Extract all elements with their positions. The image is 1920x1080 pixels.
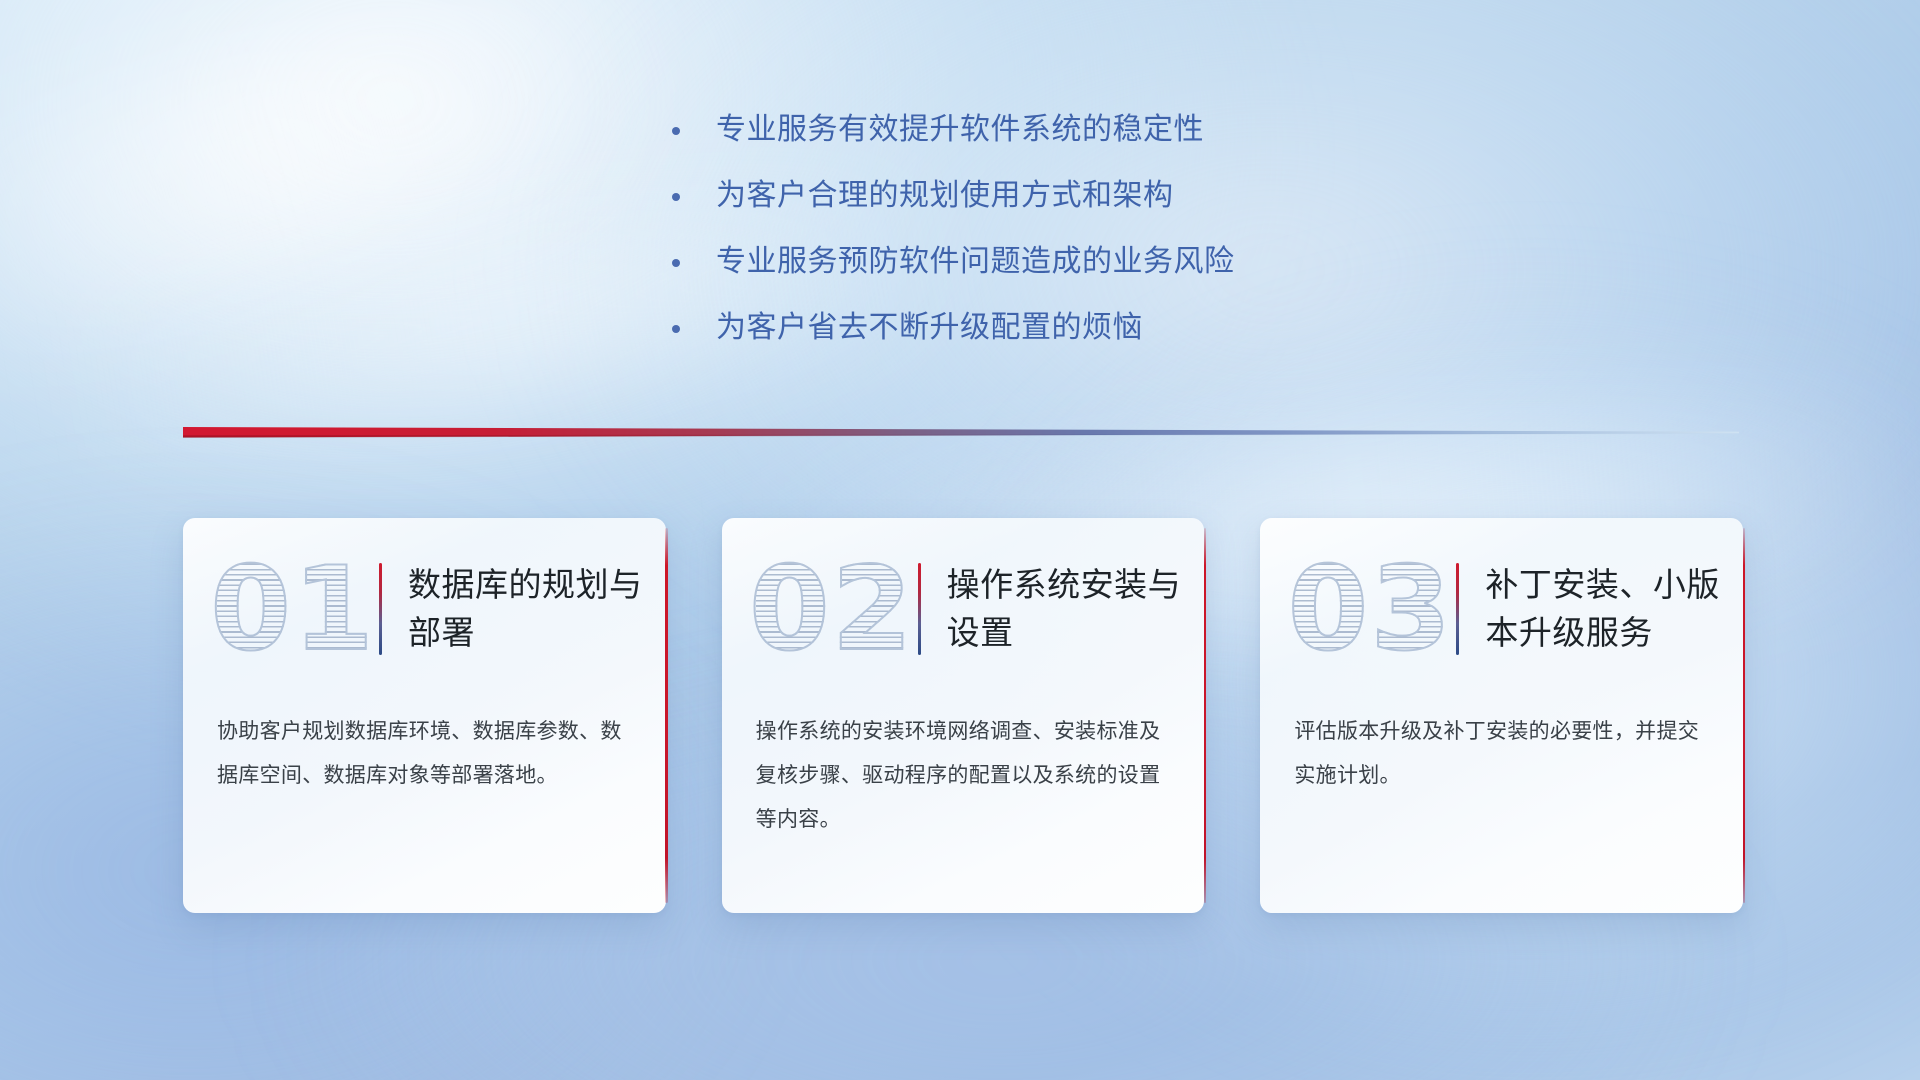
service-card-02[interactable]: 02 操作系统安装与设置 操作系统的安装环境网络调查、安装标准及复核步骤、驱动程… bbox=[722, 518, 1205, 913]
section-divider bbox=[183, 425, 1739, 441]
card-description: 操作系统的安装环境网络调查、安装标准及复核步骤、驱动程序的配置以及系统的设置等内… bbox=[722, 710, 1205, 842]
benefits-bullet-list: 专业服务有效提升软件系统的稳定性 为客户合理的规划使用方式和架构 专业服务预防软… bbox=[672, 110, 1572, 374]
background-light-streak-1 bbox=[0, 0, 672, 364]
list-item: 为客户省去不断升级配置的烦恼 bbox=[672, 308, 1572, 348]
card-accent-divider bbox=[1456, 563, 1459, 655]
service-card-row: 01 数据库的规划与部署 协助客户规划数据库环境、数据库参数、数据库空间、数据库… bbox=[183, 518, 1743, 913]
bullet-text: 为客户省去不断升级配置的烦恼 bbox=[716, 308, 1143, 348]
list-item: 为客户合理的规划使用方式和架构 bbox=[672, 176, 1572, 216]
card-description: 协助客户规划数据库环境、数据库参数、数据库空间、数据库对象等部署落地。 bbox=[183, 710, 666, 798]
list-item: 专业服务预防软件问题造成的业务风险 bbox=[672, 242, 1572, 282]
card-header: 01 数据库的规划与部署 bbox=[183, 518, 666, 700]
card-accent-divider bbox=[918, 563, 921, 655]
bullet-dot-icon bbox=[672, 325, 680, 333]
service-card-01[interactable]: 01 数据库的规划与部署 协助客户规划数据库环境、数据库参数、数据库空间、数据库… bbox=[183, 518, 666, 913]
card-number-text: 03 bbox=[1294, 548, 1446, 670]
card-number-text: 02 bbox=[756, 548, 908, 670]
bullet-dot-icon bbox=[672, 193, 680, 201]
bullet-text: 为客户合理的规划使用方式和架构 bbox=[716, 176, 1174, 216]
card-title: 操作系统安装与设置 bbox=[947, 561, 1197, 657]
bullet-dot-icon bbox=[672, 127, 680, 135]
card-accent-divider bbox=[379, 563, 382, 655]
slide-canvas: 专业服务有效提升软件系统的稳定性 为客户合理的规划使用方式和架构 专业服务预防软… bbox=[0, 0, 1920, 1080]
card-number-badge: 02 bbox=[756, 548, 908, 670]
card-number-badge: 03 bbox=[1294, 548, 1446, 670]
bullet-dot-icon bbox=[672, 259, 680, 267]
service-card-03[interactable]: 03 补丁安装、小版本升级服务 评估版本升级及补丁安装的必要性，并提交实施计划。 bbox=[1260, 518, 1743, 913]
card-description: 评估版本升级及补丁安装的必要性，并提交实施计划。 bbox=[1260, 710, 1743, 798]
bullet-text: 专业服务有效提升软件系统的稳定性 bbox=[716, 110, 1204, 150]
card-number-text: 01 bbox=[217, 548, 369, 670]
card-title: 数据库的规划与部署 bbox=[408, 561, 658, 657]
card-header: 03 补丁安装、小版本升级服务 bbox=[1260, 518, 1743, 700]
card-title: 补丁安装、小版本升级服务 bbox=[1485, 561, 1735, 657]
card-header: 02 操作系统安装与设置 bbox=[722, 518, 1205, 700]
bullet-text: 专业服务预防软件问题造成的业务风险 bbox=[716, 242, 1235, 282]
list-item: 专业服务有效提升软件系统的稳定性 bbox=[672, 110, 1572, 150]
card-number-badge: 01 bbox=[217, 548, 369, 670]
